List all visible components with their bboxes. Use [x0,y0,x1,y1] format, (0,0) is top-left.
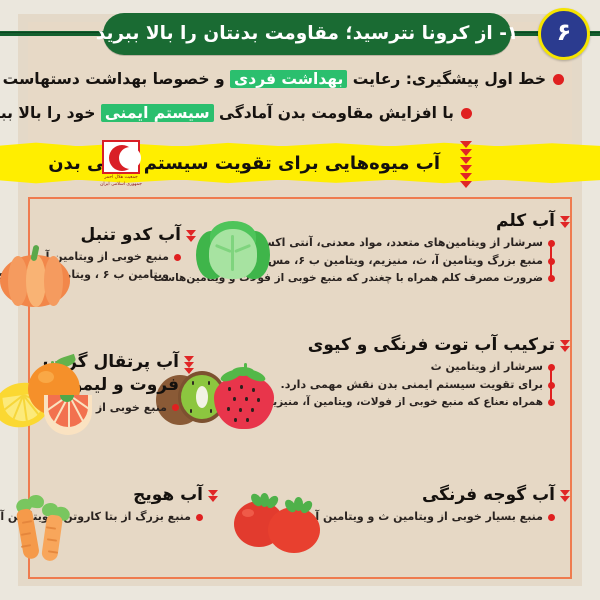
bullet-dot-icon [548,240,555,247]
infographic-page: ۱- از کرونا نترسید؛ مقاومت بدنتان را بال… [0,0,600,600]
list-item: منبع بسیار خوبی از ویتامین ث و ویتامین آ [315,509,555,525]
logo-org-subtitle: جمهوری اسلامی ایران [100,182,142,188]
item-bullet-list: منبع بسیار خوبی از ویتامین ث و ویتامین آ [315,509,555,525]
page-number-badge: ۶ [538,8,590,60]
bullet-dot-icon [172,404,179,411]
chevron-down-icon [560,340,570,352]
intro-bullet-post: خود را بالا ببرید [0,104,101,122]
juice-item-grid: آب کلم سرشار از ویتامین‌های متعدد، مواد … [30,199,570,577]
intro-bullet-highlight: سیستم ایمنی [101,104,214,122]
bullet-text: برای تقویت سیستم ایمنی بدن نقش مهمی دارد… [281,377,543,393]
intro-bullet-pre: خط اول پیشگیری: رعایت [347,70,546,88]
citrus-illustration [0,357,100,435]
chevron-down-icon [208,490,218,502]
list-item-cabbage-juice: آب کلم سرشار از ویتامین‌های متعدد، مواد … [270,211,570,288]
tomato-illustration [234,493,320,555]
intro-bullet-highlight: بهداشت فردی [230,70,347,88]
chevron-down-icon [186,230,196,242]
pumpkin-illustration [0,245,70,307]
bullet-text: منبع بزرگ ویتامین آ، ث، منیزیم، ویتامین … [232,253,543,269]
bullet-dot-icon [174,254,181,261]
chevron-down-icon [560,216,570,228]
item-title: آب گوجه فرنگی [315,485,555,506]
header-title-pill: ۱- از کرونا نترسید؛ مقاومت بدنتان را بال… [103,13,511,55]
carrot-illustration [12,493,100,559]
bullet-text: منبع بسیار خوبی از ویتامین ث و ویتامین آ [315,509,543,525]
bullet-dot-icon [553,74,564,85]
intro-bullet-row: خط اول پیشگیری: رعایت بهداشت فردی و خصوص… [36,62,564,96]
list-item-strawberry-kiwi-juice: ترکیب آب توت فرنگی و کیوی سرشار از ویتام… [270,335,570,412]
intro-bullet-text: خط اول پیشگیری: رعایت بهداشت فردی و خصوص… [3,70,546,88]
cabbage-illustration [196,221,270,287]
bullet-dot-icon [461,108,472,119]
list-item-tomato-juice: آب گوجه فرنگی منبع بسیار خوبی از ویتامین… [318,485,570,527]
banner-chevron-down-icon [460,141,472,188]
bullet-dot-icon [548,514,555,521]
chevron-down-icon [184,356,194,374]
page-title: ۱- از کرونا نترسید؛ مقاومت بدنتان را بال… [96,23,518,44]
intro-bullet-text: با افزایش مقاومت بدن آمادگی سیستم ایمنی … [0,104,454,122]
intro-bullet-post: و خصوصا بهداشت دستهاست [3,70,230,88]
item-title: آب کدو تنبل [0,225,181,246]
chevron-down-icon [560,490,570,502]
bullet-dot-icon [548,399,555,406]
bullet-text: سرشار از ویتامین ث [431,359,543,375]
bullet-dot-icon [196,514,203,521]
red-crescent-logo: جمعیت هلال احمر جمهوری اسلامی ایران [94,140,148,196]
intro-bullet-list: خط اول پیشگیری: رعایت بهداشت فردی و خصوص… [36,62,564,130]
bullet-dot-icon [548,258,555,265]
intro-bullet-row: با افزایش مقاومت بدن آمادگی سیستم ایمنی … [0,96,564,130]
intro-bullet-pre: با افزایش مقاومت بدن آمادگی [214,104,454,122]
bullet-dot-icon [548,382,555,389]
logo-org-name: جمعیت هلال احمر [104,175,138,181]
bullet-dot-icon [548,275,555,282]
bullet-text: سرشار از ویتامین‌های متعدد، مواد معدنی، … [228,235,543,251]
bullet-dot-icon [548,364,555,371]
crescent-icon [102,140,140,174]
page-number-text: ۶ [557,20,572,44]
